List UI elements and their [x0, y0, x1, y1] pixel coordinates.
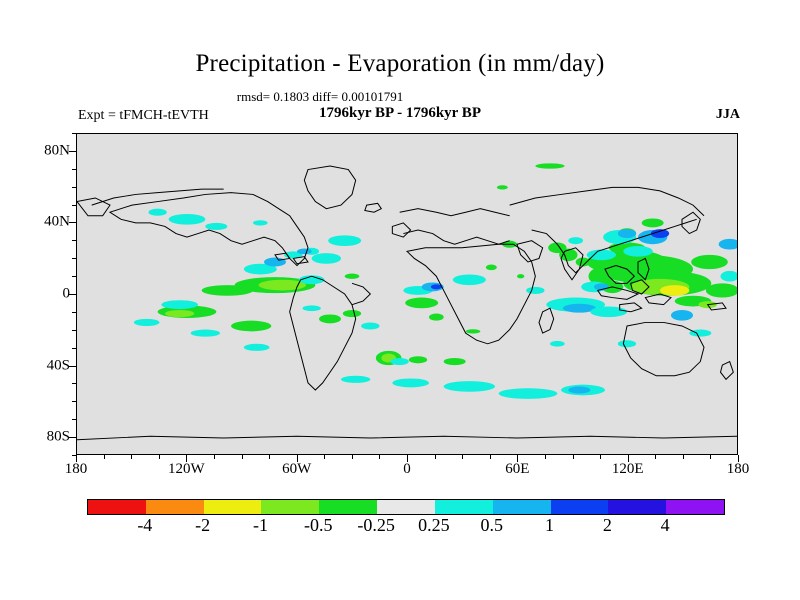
colorbar-tick-label: 0.25: [418, 515, 450, 536]
y-axis-label: 80N: [24, 142, 70, 159]
y-axis-tick: [72, 187, 76, 188]
x-axis-tick: [242, 455, 243, 459]
colorbar-swatch[interactable]: [261, 500, 319, 514]
x-axis-tick: [131, 455, 132, 459]
x-axis-tick: [545, 455, 546, 459]
statistics-line: rmsd= 0.1803 diff= 0.00101791: [0, 89, 640, 105]
y-axis-tick: [72, 276, 76, 277]
y-axis-tick: [72, 258, 76, 259]
x-axis-tick: [683, 455, 684, 459]
x-axis-label: 60E: [505, 461, 529, 478]
colorbar-tick-label: -4: [137, 515, 152, 536]
x-axis-tick: [710, 455, 711, 459]
x-axis-tick: [269, 455, 270, 459]
y-axis-tick: [72, 419, 76, 420]
x-axis-label: 60W: [282, 461, 311, 478]
season-label: JJA: [716, 107, 740, 123]
y-axis-tick: [72, 240, 76, 241]
colorbar-swatch[interactable]: [146, 500, 204, 514]
y-axis-label: 0: [24, 286, 70, 303]
x-axis-label: 180: [65, 461, 88, 478]
y-axis-tick: [72, 401, 76, 402]
x-axis-tick: [435, 455, 436, 459]
x-axis-tick: [490, 455, 491, 459]
colorbar-tick-label: -0.25: [357, 515, 395, 536]
colorbar-swatch[interactable]: [608, 500, 666, 514]
colorbar-swatch[interactable]: [88, 500, 146, 514]
y-axis-tick: [69, 222, 76, 223]
x-axis-tick: [104, 455, 105, 459]
x-axis-tick: [379, 455, 380, 459]
colorbar-tick-label: 2: [603, 515, 612, 536]
colorbar[interactable]: [87, 499, 725, 515]
y-axis-label: 40S: [24, 357, 70, 374]
y-axis-tick: [72, 455, 76, 456]
colorbar-tick-label: 0.5: [480, 515, 503, 536]
x-axis-tick: [573, 455, 574, 459]
y-axis-tick: [69, 366, 76, 367]
x-axis-label: 180: [727, 461, 750, 478]
x-axis-tick: [352, 455, 353, 459]
colorbar-swatch[interactable]: [551, 500, 609, 514]
y-axis-tick: [72, 133, 76, 134]
page-title: Precipitation - Evaporation (in mm/day): [0, 50, 800, 78]
colorbar-swatch[interactable]: [666, 500, 724, 514]
y-axis-tick: [72, 312, 76, 313]
world-map: [77, 134, 737, 454]
colorbar-tick-label: -1: [253, 515, 268, 536]
x-axis-tick: [324, 455, 325, 459]
x-axis-label: 0: [403, 461, 411, 478]
map-plot-area: [76, 133, 738, 455]
y-axis-tick: [72, 205, 76, 206]
x-axis-label: 120W: [168, 461, 205, 478]
y-axis-label: 40N: [24, 214, 70, 231]
x-axis-tick: [600, 455, 601, 459]
colorbar-labels: -4-2-1-0.5-0.250.250.5124: [87, 515, 723, 541]
x-axis-tick: [655, 455, 656, 459]
colorbar-tick-label: -2: [195, 515, 210, 536]
x-axis-tick: [214, 455, 215, 459]
y-axis-tick: [69, 151, 76, 152]
y-axis-tick: [72, 169, 76, 170]
x-axis-tick: [462, 455, 463, 459]
colorbar-tick-label: 1: [545, 515, 554, 536]
x-axis-tick: [159, 455, 160, 459]
colorbar-swatch[interactable]: [377, 500, 435, 514]
experiment-label: Expt = tFMCH-tEVTH: [78, 108, 209, 124]
y-axis-tick: [69, 294, 76, 295]
colorbar-tick-label: 4: [661, 515, 670, 536]
colorbar-tick-label: -0.5: [304, 515, 333, 536]
y-axis-tick: [69, 437, 76, 438]
colorbar-swatch[interactable]: [493, 500, 551, 514]
y-axis-tick: [72, 348, 76, 349]
colorbar-swatch[interactable]: [204, 500, 262, 514]
x-axis-label: 120E: [612, 461, 644, 478]
colorbar-swatch[interactable]: [435, 500, 493, 514]
y-axis-tick: [72, 330, 76, 331]
colorbar-swatch[interactable]: [319, 500, 377, 514]
y-axis-tick: [72, 383, 76, 384]
y-axis-label: 80S: [24, 429, 70, 446]
